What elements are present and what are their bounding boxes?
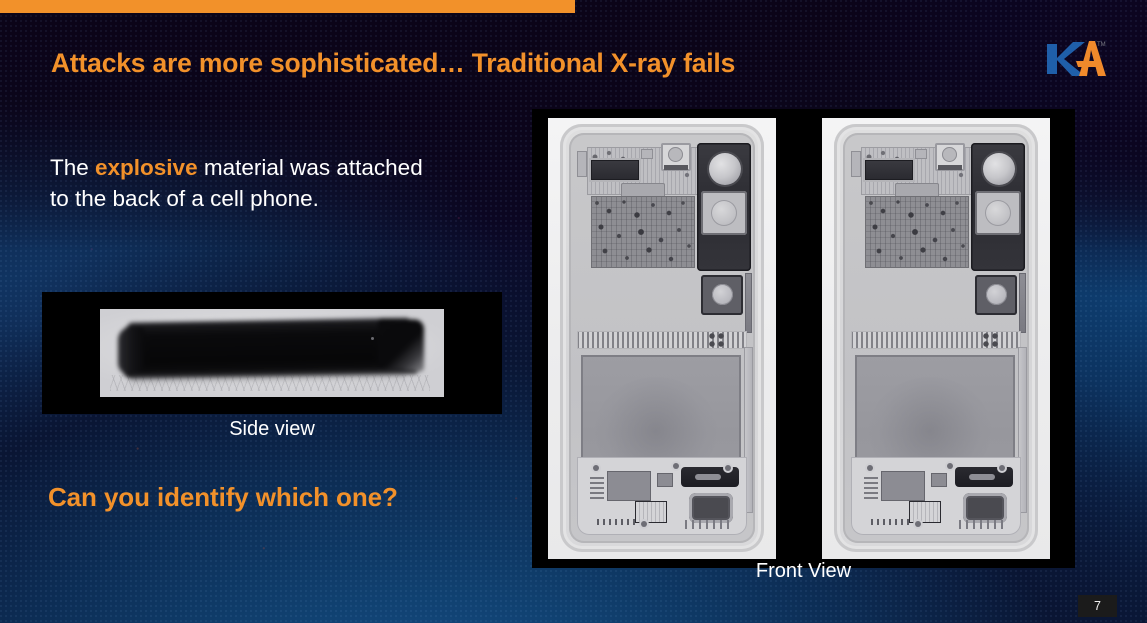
pin-row-b-left (685, 520, 731, 529)
screw-b-left (673, 463, 679, 469)
small-shield-a-right (851, 151, 861, 177)
body-text-line2: to the back of a cell phone. (50, 186, 319, 211)
camera-housing-right (971, 143, 1025, 271)
phone-outline-left (560, 124, 764, 552)
speaker-module-left (681, 467, 739, 487)
connector-dots-right (983, 333, 1009, 347)
body-text-lead: The (50, 155, 95, 180)
logic-board-left (591, 196, 695, 268)
bottom-ic-left (635, 501, 667, 523)
usb-port-left (689, 493, 733, 523)
logic-board-right (865, 196, 969, 268)
camera-module-lower-left (701, 275, 743, 315)
side-view-caption: Side view (42, 418, 502, 441)
front-view-xray-right (822, 118, 1050, 559)
bottom-chip-a-left (607, 471, 651, 501)
connector-dots-left (709, 333, 735, 347)
bottom-ic-right (909, 501, 941, 523)
board-label-left (590, 477, 604, 499)
body-text-rest: material was attached (198, 155, 423, 180)
small-shield-b-left (641, 149, 653, 159)
lower-board-right (851, 457, 1021, 535)
screw-a-left (593, 465, 599, 471)
ka-logo: TM (1045, 36, 1109, 82)
phone-interior-right (843, 133, 1029, 543)
side-view-image-panel (42, 292, 502, 414)
camera-housing-left (697, 143, 751, 271)
small-shield-a-left (577, 151, 587, 177)
screw-b-right (947, 463, 953, 469)
side-view-xray-image (100, 309, 444, 397)
screw-c-right (999, 465, 1005, 471)
pin-row-a-left (597, 519, 637, 525)
connector-bar-left (664, 165, 688, 170)
body-text-highlight: explosive (95, 155, 198, 180)
small-shield-b-right (915, 149, 927, 159)
camera-lens-top-left (709, 153, 741, 185)
slide: Attacks are more sophisticated… Traditio… (0, 0, 1147, 623)
board-label-right (864, 477, 878, 499)
camera-lens-top-right (983, 153, 1015, 185)
phone-interior-left (569, 133, 755, 543)
screw-a-right (867, 465, 873, 471)
camera-module-main-right (975, 191, 1021, 235)
page-number: 7 (1078, 595, 1117, 617)
body-paragraph: The explosive material was attached to t… (50, 152, 480, 214)
speaker-module-right (955, 467, 1013, 487)
shield-can-left (591, 160, 639, 180)
shield-can-right (865, 160, 913, 180)
logo-trademark: TM (1097, 42, 1106, 48)
pin-row-a-right (871, 519, 911, 525)
screw-c-left (725, 465, 731, 471)
bottom-chip-b-right (931, 473, 947, 487)
screw-d-right (915, 521, 921, 527)
question-text: Can you identify which one? (48, 482, 398, 513)
camera-module-lower-right (975, 275, 1017, 315)
phone-outline-right (834, 124, 1038, 552)
lower-board-left (577, 457, 747, 535)
flex-cable-left (745, 273, 752, 333)
slide-title: Attacks are more sophisticated… Traditio… (51, 48, 735, 79)
connector-bar-right (938, 165, 962, 170)
front-view-xray-left (548, 118, 776, 559)
front-view-image-panel (532, 109, 1075, 568)
screw-d-left (641, 521, 647, 527)
logo-letter-k-icon (1047, 42, 1085, 76)
pin-row-b-right (959, 520, 1005, 529)
flex-cable-right (1019, 273, 1026, 333)
side-view-phone-silhouette (118, 319, 426, 379)
camera-module-main-left (701, 191, 747, 235)
top-accent-bar (0, 0, 575, 13)
bottom-chip-b-left (657, 473, 673, 487)
front-view-caption: Front View (532, 560, 1075, 583)
bottom-chip-a-right (881, 471, 925, 501)
usb-port-right (963, 493, 1007, 523)
